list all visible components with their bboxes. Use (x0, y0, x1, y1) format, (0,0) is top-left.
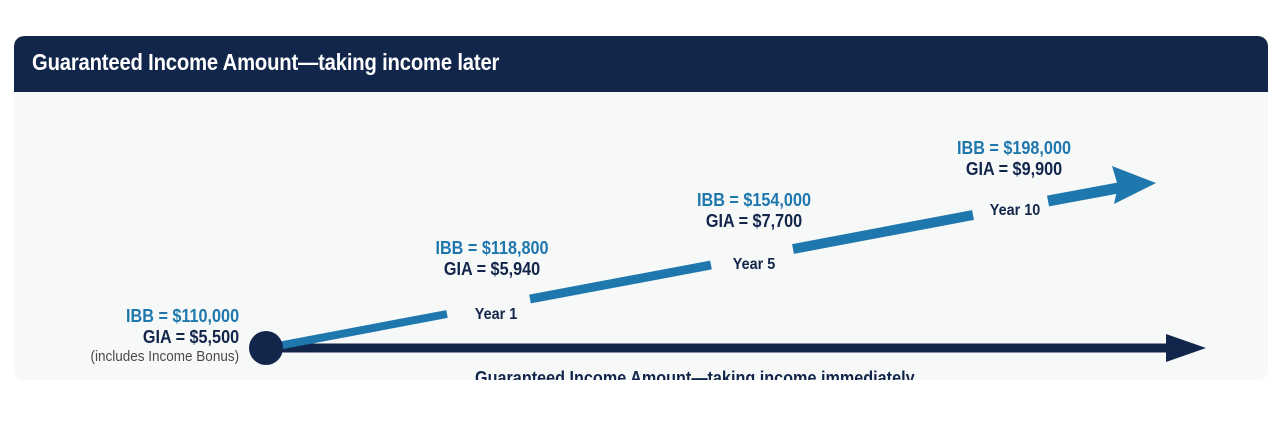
year-1-ibb-value: IBB = $118,800 (420, 238, 564, 259)
year-10-gia-value: GIA = $9,900 (938, 159, 1091, 180)
label-group-year-1: IBB = $118,800 GIA = $5,940 (420, 238, 564, 280)
growth-segment-start-to-year1 (267, 314, 447, 348)
origin-dot (249, 331, 283, 365)
start-note: (includes Income Bonus) (90, 348, 239, 366)
growth-arrowhead (1112, 166, 1156, 204)
year-10-marker-label: Year 10 (976, 202, 1053, 220)
diagram-stage: Guaranteed Income Amount—taking income l… (0, 0, 1280, 439)
label-group-start: IBB = $110,000 GIA = $5,500 (includes In… (90, 306, 239, 366)
label-group-year-10: IBB = $198,000 GIA = $9,900 (938, 138, 1091, 180)
card-header: Guaranteed Income Amount—taking income l… (14, 36, 1268, 92)
guaranteed-income-card: Guaranteed Income Amount—taking income l… (14, 36, 1268, 380)
page-title: Guaranteed Income Amount—taking income l… (32, 49, 499, 76)
baseline-arrowhead (1166, 334, 1206, 362)
label-group-year-5: IBB = $154,000 GIA = $7,700 (682, 190, 826, 232)
year-10-ibb-value: IBB = $198,000 (938, 138, 1091, 159)
year-5-ibb-value: IBB = $154,000 (682, 190, 826, 211)
year-1-gia-value: GIA = $5,940 (420, 259, 564, 280)
start-gia-value: GIA = $5,500 (90, 327, 239, 348)
start-ibb-value: IBB = $110,000 (90, 306, 239, 327)
year-5-gia-value: GIA = $7,700 (682, 211, 826, 232)
baseline-caption: Guaranteed Income Amount—taking income i… (475, 368, 853, 380)
diagram-canvas: IBB = $110,000 GIA = $5,500 (includes In… (14, 92, 1268, 380)
year-1-marker-label: Year 1 (462, 306, 530, 324)
year-5-marker-label: Year 5 (720, 256, 788, 274)
